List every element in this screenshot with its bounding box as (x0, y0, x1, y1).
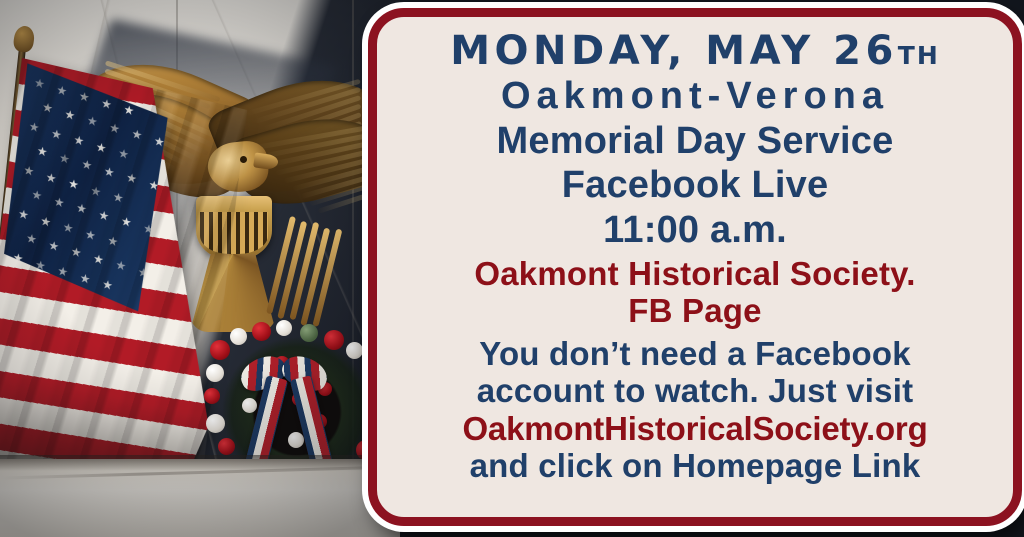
viewing-note-line-1: You don’t need a Facebook (391, 335, 999, 373)
host-organization: Oakmont Historical Society. (391, 255, 999, 293)
website-link[interactable]: OakmontHistoricalSociety.org (391, 410, 999, 448)
wreath-flower (210, 340, 230, 360)
wreath-flower (252, 322, 271, 341)
wreath-flower (230, 328, 247, 345)
wreath-flower (242, 398, 257, 413)
event-platform: Facebook Live (391, 164, 999, 207)
event-town: Oakmont-Verona (391, 76, 999, 118)
poster-root: ★★★★★★★★★★★★★★★★★★★★★★★★★★★★★★★★★★★★★★★★… (0, 0, 1024, 537)
floor-edge (0, 455, 400, 471)
viewing-note-line-3: and click on Homepage Link (391, 447, 999, 485)
wreath-flower (300, 324, 318, 342)
event-service: Memorial Day Service (391, 120, 999, 163)
wreath-flower (346, 342, 363, 359)
wreath-flower (206, 364, 224, 382)
event-date-suffix: TH (898, 41, 940, 70)
wreath-flower (288, 432, 304, 448)
wreath-flower (218, 438, 235, 455)
host-organization-page: FB Page (391, 293, 999, 329)
viewing-note-line-2: account to watch. Just visit (391, 373, 999, 410)
wreath-flower (206, 414, 225, 433)
memorial-photo: ★★★★★★★★★★★★★★★★★★★★★★★★★★★★★★★★★★★★★★★★… (0, 0, 400, 537)
event-date: MONDAY, MAY 26TH (391, 31, 999, 72)
announcement-card: MONDAY, MAY 26TH Oakmont-Verona Memorial… (368, 8, 1022, 526)
wreath-flower (204, 388, 220, 404)
event-date-main: MONDAY, MAY 26 (450, 28, 898, 74)
event-time: 11:00 a.m. (391, 209, 999, 252)
wreath-flower (324, 330, 344, 350)
wreath-flower (276, 320, 292, 336)
